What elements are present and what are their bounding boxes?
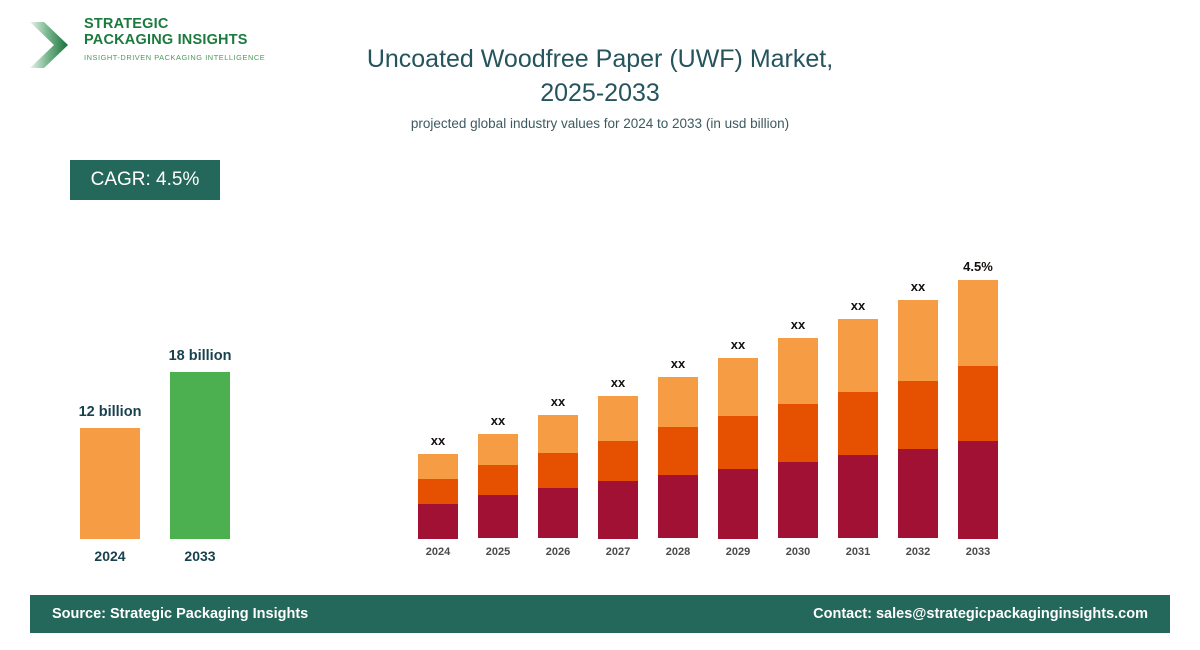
comparison-bar-2024 (80, 428, 140, 539)
footer-source: Source: Strategic Packaging Insights (52, 606, 308, 622)
stacked-segment-segment-top-2028 (658, 377, 698, 427)
stacked-bar-segments-2028 (658, 377, 698, 538)
stacked-segment-segment-top-2031 (838, 319, 878, 392)
footer-bar: Source: Strategic Packaging Insights Con… (30, 595, 1170, 633)
stacked-bar-segments-2030 (778, 338, 818, 538)
stacked-bar-chart: xx2024xx2025xx2026xx2027xx2028xx2029xx20… (400, 200, 1020, 560)
stacked-value-label-2033: 4.5% (943, 259, 1013, 274)
brand-name-line2: PACKAGING INSIGHTS (84, 32, 269, 48)
comparison-value-label-2033: 18 billion (130, 348, 270, 364)
stacked-segment-segment-bottom-2031 (838, 455, 878, 538)
stacked-segment-segment-middle-2032 (898, 381, 938, 449)
stacked-segment-segment-bottom-2028 (658, 475, 698, 538)
stacked-segment-segment-middle-2031 (838, 392, 878, 455)
page-title-line2: 2025-2033 (280, 76, 920, 110)
stacked-segment-segment-middle-2029 (718, 416, 758, 469)
stacked-segment-segment-bottom-2024 (418, 504, 458, 539)
comparison-bar-fill-2024 (80, 428, 140, 539)
comparison-value-label-2024: 12 billion (40, 404, 180, 420)
footer-contact: Contact: sales@strategicpackaginginsight… (813, 606, 1148, 622)
stacked-segment-segment-bottom-2029 (718, 469, 758, 539)
stacked-segment-segment-top-2030 (778, 338, 818, 404)
stacked-segment-segment-bottom-2032 (898, 449, 938, 538)
stacked-segment-segment-top-2026 (538, 415, 578, 453)
stacked-bar-segments-2025 (478, 434, 518, 538)
stacked-segment-segment-middle-2027 (598, 441, 638, 481)
stacked-bar-segments-2029 (718, 358, 758, 538)
stacked-year-label-2033: 2033 (943, 546, 1013, 558)
stacked-segment-segment-middle-2033 (958, 366, 998, 441)
stacked-bar-segments-2027 (598, 396, 638, 538)
stacked-segment-segment-middle-2028 (658, 427, 698, 475)
comparison-chart: 12 billion202418 billion2033 (40, 300, 300, 570)
stacked-segment-segment-middle-2024 (418, 479, 458, 504)
brand-wordmark: STRATEGIC PACKAGING INSIGHTS INSIGHT-DRI… (84, 16, 269, 62)
stacked-segment-segment-bottom-2030 (778, 462, 818, 538)
stacked-value-label-2026: xx (523, 394, 593, 409)
stacked-bar-segments-2024 (418, 454, 458, 538)
stacked-value-label-2031: xx (823, 298, 893, 313)
stacked-value-label-2032: xx (883, 279, 953, 294)
stacked-value-label-2024: xx (403, 433, 473, 448)
comparison-year-label-2024: 2024 (60, 548, 160, 564)
stacked-segment-segment-bottom-2025 (478, 495, 518, 538)
comparison-year-label-2033: 2033 (150, 548, 250, 564)
page-subtitle: projected global industry values for 202… (280, 116, 920, 131)
stacked-bar-segments-2032 (898, 300, 938, 538)
brand-logo: STRATEGIC PACKAGING INSIGHTS INSIGHT-DRI… (28, 16, 268, 78)
stacked-segment-segment-top-2029 (718, 358, 758, 416)
stacked-segment-segment-bottom-2027 (598, 481, 638, 539)
stacked-segment-segment-bottom-2033 (958, 441, 998, 539)
stacked-segment-segment-middle-2030 (778, 404, 818, 462)
page-title: Uncoated Woodfree Paper (UWF) Market, 20… (280, 42, 920, 110)
brand-tagline: INSIGHT-DRIVEN PACKAGING INTELLIGENCE (84, 53, 269, 62)
cagr-badge: CAGR: 4.5% (70, 160, 220, 200)
stacked-segment-segment-bottom-2026 (538, 488, 578, 538)
stacked-segment-segment-top-2033 (958, 280, 998, 366)
page-title-line1: Uncoated Woodfree Paper (UWF) Market, (280, 42, 920, 76)
stacked-value-label-2030: xx (763, 317, 833, 332)
comparison-bar-fill-2033 (170, 372, 230, 539)
stacked-bar-segments-2033 (958, 280, 998, 538)
stacked-segment-segment-top-2025 (478, 434, 518, 465)
stacked-segment-segment-middle-2026 (538, 453, 578, 488)
stacked-value-label-2028: xx (643, 356, 713, 371)
stacked-segment-segment-middle-2025 (478, 465, 518, 495)
chevron-arrow-icon (28, 18, 76, 72)
brand-name-line1: STRATEGIC (84, 16, 269, 32)
stacked-bar-segments-2026 (538, 415, 578, 538)
stacked-segment-segment-top-2032 (898, 300, 938, 381)
stacked-value-label-2027: xx (583, 375, 653, 390)
comparison-bar-2033 (170, 372, 230, 539)
stacked-bar-segments-2031 (838, 319, 878, 538)
stacked-segment-segment-top-2027 (598, 396, 638, 441)
stacked-segment-segment-top-2024 (418, 454, 458, 479)
stacked-value-label-2025: xx (463, 413, 533, 428)
stacked-value-label-2029: xx (703, 337, 773, 352)
